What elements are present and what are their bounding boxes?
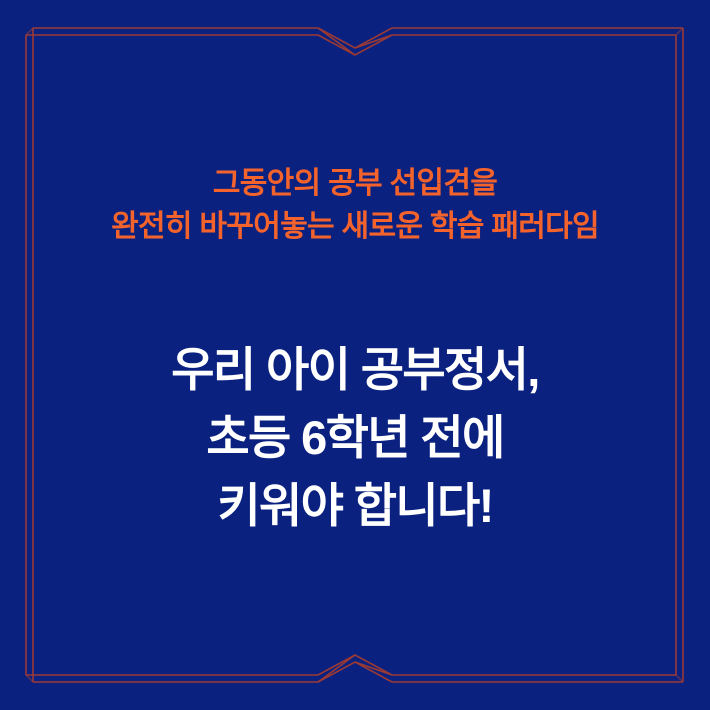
subheadline-line-2: 완전히 바꾸어놓는 새로운 학습 패러다임 — [0, 206, 710, 249]
headline-line-1: 우리 아이 공부정서, — [0, 336, 710, 404]
poster-content: 그동안의 공부 선입견을 완전히 바꾸어놓는 새로운 학습 패러다임 우리 아이… — [0, 0, 710, 710]
subheadline-line-1: 그동안의 공부 선입견을 — [0, 163, 710, 206]
headline-line-3: 키워야 합니다! — [0, 472, 710, 540]
promo-poster: 그동안의 공부 선입견을 완전히 바꾸어놓는 새로운 학습 패러다임 우리 아이… — [0, 0, 710, 710]
subheadline: 그동안의 공부 선입견을 완전히 바꾸어놓는 새로운 학습 패러다임 — [0, 163, 710, 248]
headline-line-2: 초등 6학년 전에 — [0, 404, 710, 472]
headline: 우리 아이 공부정서, 초등 6학년 전에 키워야 합니다! — [0, 336, 710, 540]
